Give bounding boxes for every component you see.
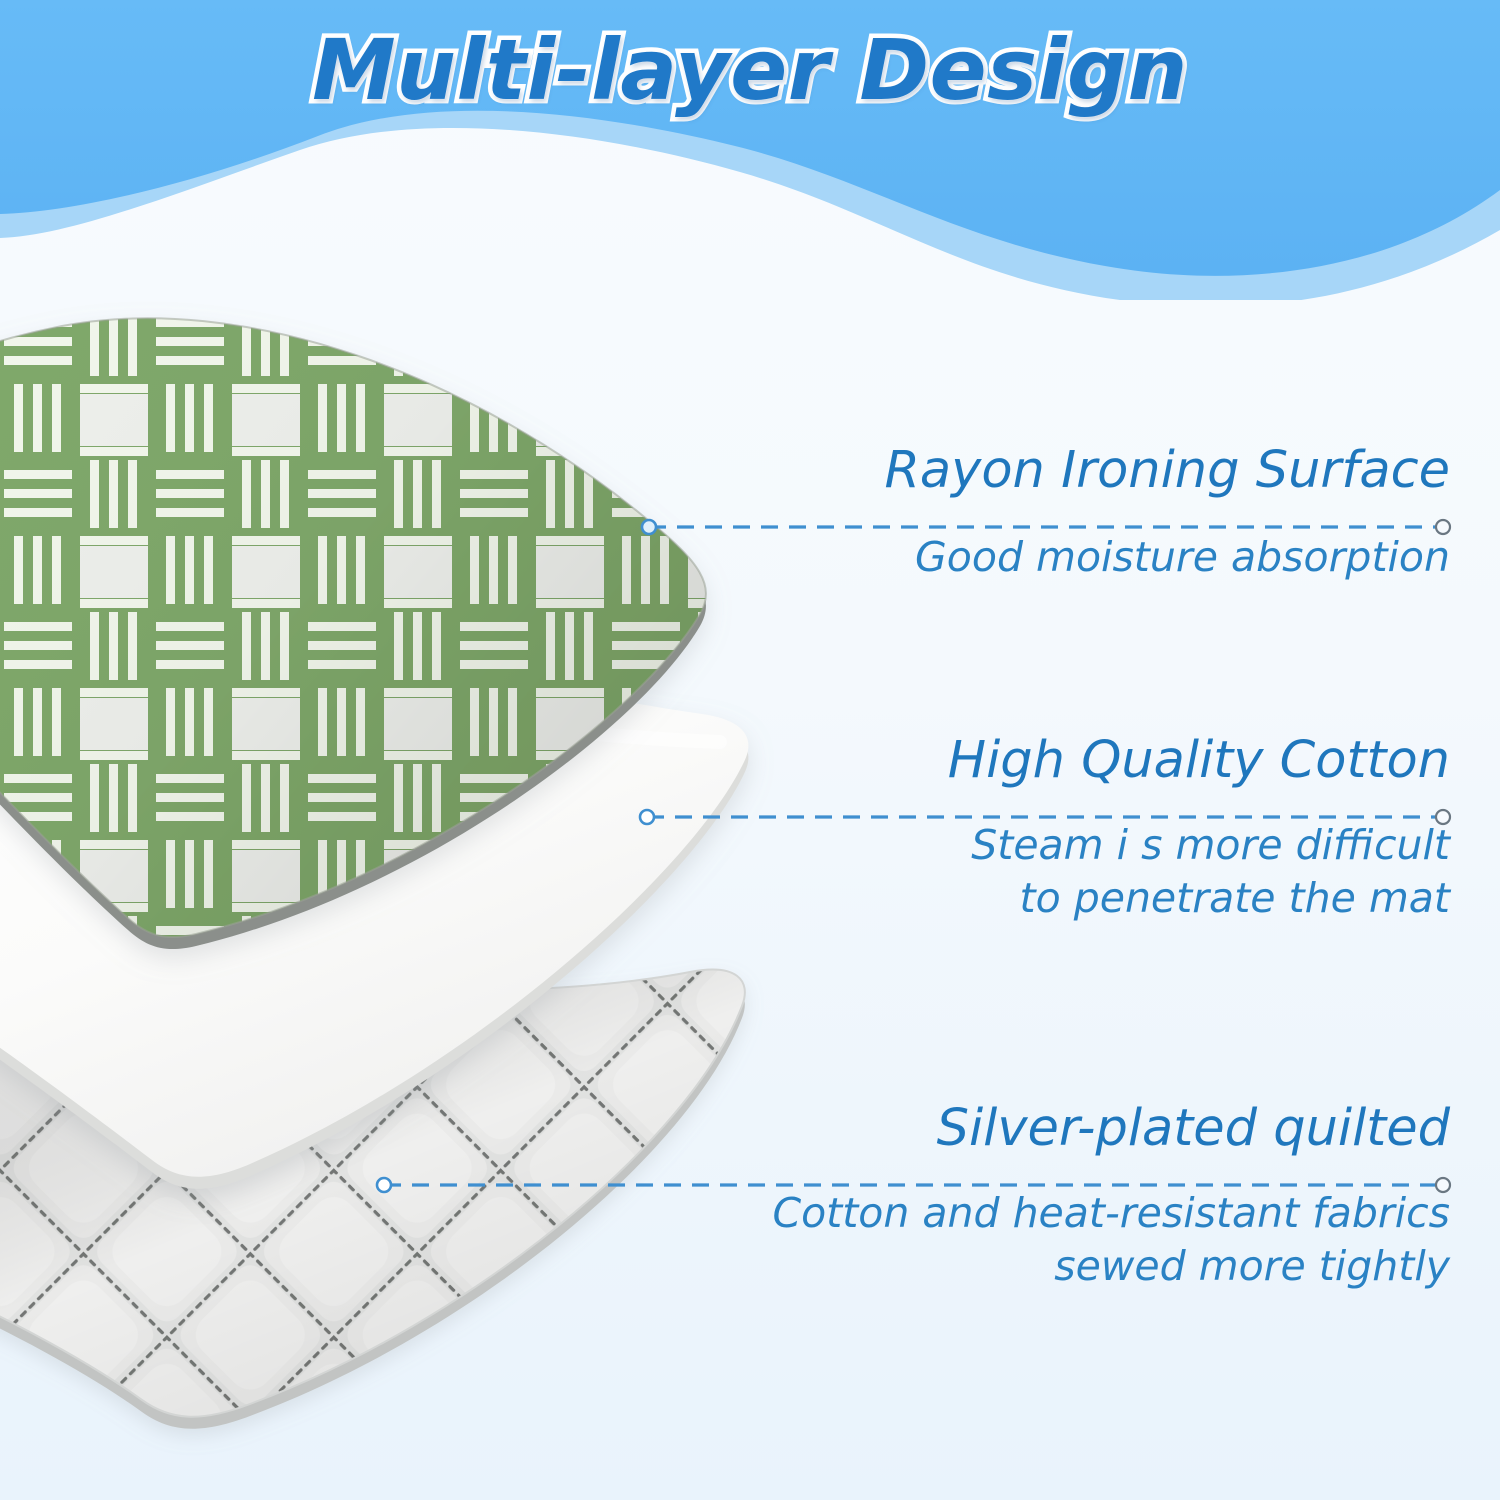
callout-cotton-subtitle-line-2: to penetrate the mat bbox=[638, 873, 1450, 924]
callout-silver-subtitle-line-1: Cotton and heat-resistant fabrics bbox=[375, 1188, 1450, 1239]
callout-cotton-subtitle-line-1: Steam i s more difficult bbox=[638, 820, 1450, 871]
callout-silver-title: Silver-plated quilted bbox=[375, 1098, 1450, 1160]
callout-cotton-title: High Quality Cotton bbox=[638, 730, 1450, 792]
callout-silver-marker-right bbox=[1436, 1178, 1450, 1192]
callout-silver-subtitle-line-2: sewed more tightly bbox=[375, 1241, 1450, 1292]
callout-rayon-ironing-surface: Rayon Ironing Surface Good moisture abso… bbox=[640, 440, 1450, 583]
callout-cotton-marker-right bbox=[1436, 810, 1450, 824]
callout-rayon-marker-right bbox=[1436, 520, 1450, 534]
callout-silver-marker-left bbox=[377, 1178, 391, 1192]
callout-silver-rule bbox=[375, 1178, 1450, 1192]
callout-silver-plated-quilted: Silver-plated quilted Cotton and heat-re… bbox=[375, 1098, 1450, 1292]
callout-rayon-title: Rayon Ironing Surface bbox=[640, 440, 1450, 502]
callout-cotton-rule bbox=[638, 810, 1450, 824]
callout-rayon-subtitle: Good moisture absorption bbox=[640, 532, 1450, 583]
callout-cotton-marker-left bbox=[640, 810, 654, 824]
infographic-page: Multi-layer Design bbox=[0, 0, 1500, 1500]
callout-rayon-marker-left bbox=[642, 520, 656, 534]
callout-rayon-rule bbox=[640, 520, 1450, 534]
callout-high-quality-cotton: High Quality Cotton Steam i s more diffi… bbox=[638, 730, 1450, 924]
